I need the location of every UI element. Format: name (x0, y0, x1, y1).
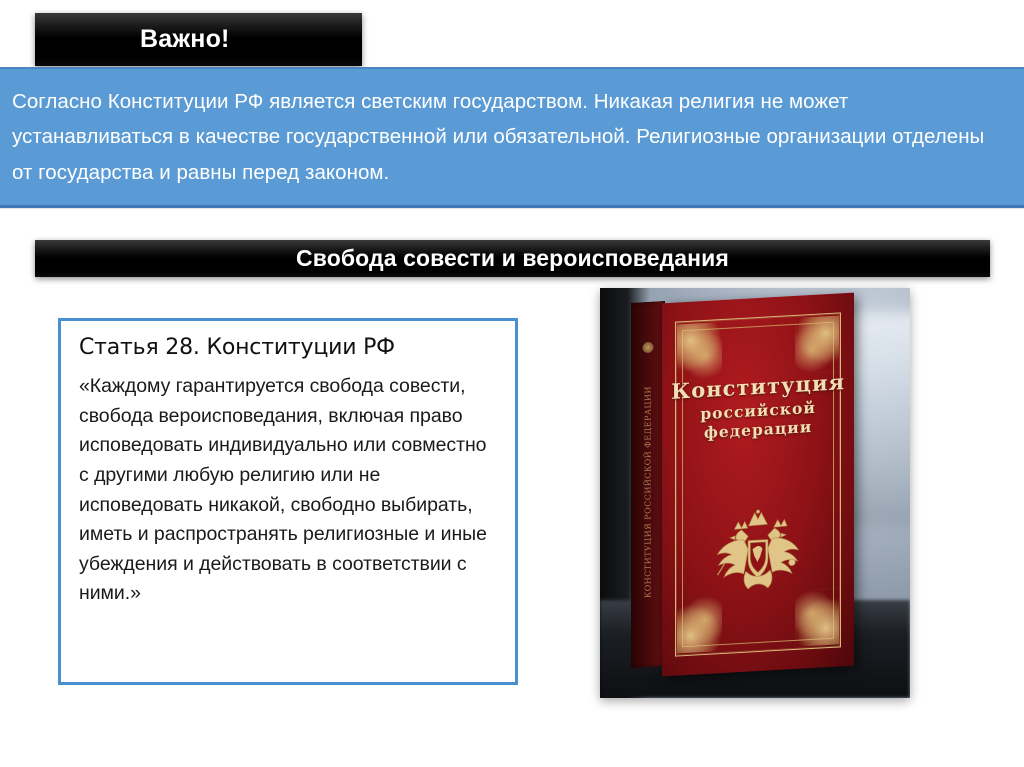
blue-statement-band: Согласно Конституции РФ является светски… (0, 67, 1024, 208)
constitution-book-photo: КОНСТИТУЦИЯ РОССИЙСКОЙ ФЕДЕРАЦИИ Констит… (600, 288, 910, 698)
double-headed-eagle-icon (703, 474, 813, 629)
book-spine: КОНСТИТУЦИЯ РОССИЙСКОЙ ФЕДЕРАЦИИ (631, 301, 665, 668)
article-body-text: «Каждому гарантируется свобода совести, … (79, 372, 499, 609)
article-heading: Статья 28. Конституции РФ (79, 335, 499, 360)
spine-emblem-icon (643, 342, 654, 354)
section-title-banner: Свобода совести и вероисповедания (35, 240, 990, 277)
band-hairline-divider (0, 208, 1024, 209)
book-front-cover: Конституция российской федерации (662, 293, 854, 677)
important-banner-label: Важно! (140, 27, 230, 52)
blue-band-text: Согласно Конституции РФ является светски… (0, 84, 1024, 190)
cover-title-block: Конституция российской федерации (662, 371, 854, 445)
cover-corner-ornament-icon (795, 316, 839, 374)
important-banner: Важно! (35, 13, 362, 66)
section-title-label: Свобода совести и вероисповедания (296, 247, 729, 270)
cover-corner-ornament-icon (677, 323, 721, 381)
article-card: Статья 28. Конституции РФ «Каждому гаран… (58, 318, 518, 685)
book-spine-text: КОНСТИТУЦИЯ РОССИЙСКОЙ ФЕДЕРАЦИИ (644, 386, 653, 598)
